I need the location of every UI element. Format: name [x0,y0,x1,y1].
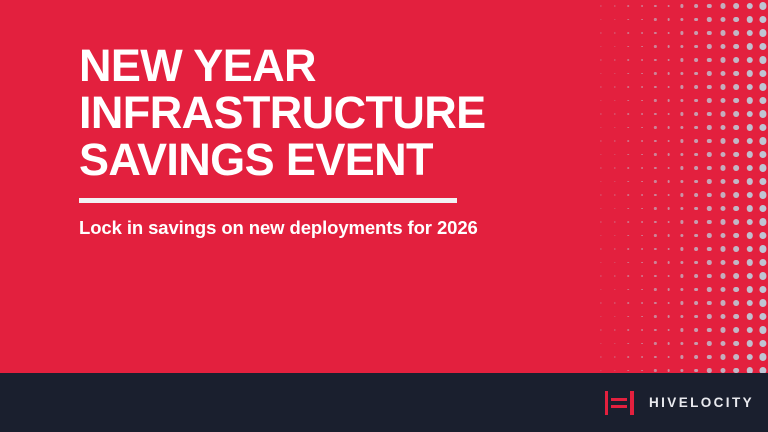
dot [760,178,767,185]
dot [720,98,725,103]
dot [654,5,656,7]
dot [654,207,656,209]
dot [747,3,753,9]
dot [733,314,739,320]
dot [654,248,656,250]
dot [627,208,629,210]
dot-column [608,0,622,373]
dot [641,235,643,237]
dot [601,275,602,276]
dot [627,32,629,34]
brand-wordmark: HIVELOCITY [649,395,754,410]
dot [614,100,615,101]
dot [694,234,698,238]
dot [733,30,739,36]
dot [641,127,643,129]
dot [681,288,684,291]
dot [667,32,670,35]
dot [747,300,753,306]
dot [720,287,725,292]
dot [601,113,602,114]
dot [667,315,670,318]
dot [641,167,643,169]
dot [694,315,698,319]
dot [627,221,629,223]
dot [720,57,725,62]
dot [667,356,670,359]
dot [760,259,767,266]
dot [667,113,670,116]
dot [720,179,725,184]
dot [720,314,725,319]
dot [654,329,656,331]
dot [694,126,698,130]
dot [760,97,767,104]
dot [694,355,698,359]
dot [627,370,629,372]
headline-line-2: INFRASTRUCTURE [79,89,549,136]
dot [733,152,739,158]
dot [654,180,656,182]
dot [601,302,602,303]
dot [667,72,670,75]
dot [641,343,643,345]
dot [654,32,656,34]
dot-column [757,0,768,373]
dot [667,261,670,264]
dot [720,354,725,359]
dot [707,260,711,264]
hero-subhead: Lock in savings on new deployments for 2… [79,203,549,240]
dot [694,153,698,157]
dot [614,221,615,222]
dot [627,59,629,61]
dot [720,152,725,157]
dot [720,44,725,49]
dot [694,220,698,224]
dot [707,85,711,89]
dot [614,329,615,330]
dot [601,167,602,168]
mark-bar-left [605,391,609,415]
dot [654,221,656,223]
dot [694,193,698,197]
dot [641,329,643,331]
dot [627,356,629,358]
dot [654,234,656,236]
dot [601,248,602,249]
dot [681,355,684,358]
dot [681,99,684,102]
dot [720,206,725,211]
dot [760,16,767,23]
dot [707,247,711,251]
dot [627,140,629,142]
dot [641,140,643,142]
dot [760,272,767,279]
dot [681,328,684,331]
dot [667,342,670,345]
dot [601,235,602,236]
dot [627,329,629,331]
dot [601,32,602,33]
dot [694,139,698,143]
dot [614,86,615,87]
dot [747,84,753,90]
dot [601,140,602,141]
dot [641,19,643,21]
dot [627,73,629,75]
dot [614,370,615,371]
dot [641,154,643,156]
dot [654,194,656,196]
dot [760,43,767,50]
dot [641,275,643,277]
dot [707,328,711,332]
dot-column [662,0,676,373]
dot [747,286,753,292]
dot [601,154,602,155]
dot [667,5,670,8]
dot [601,100,602,101]
dot [681,261,684,264]
dot [747,219,753,225]
dot [747,16,753,22]
dot [681,45,684,48]
dot [707,355,711,359]
dot [654,72,656,74]
dot [681,112,684,115]
dot [733,3,739,9]
dot [614,248,615,249]
dot [694,247,698,251]
dot [681,342,684,345]
dot [694,72,698,76]
dot [627,113,629,115]
dot [601,194,602,195]
dot [760,286,767,293]
dot [654,45,656,47]
dot-column [730,0,744,373]
dot-column [635,0,649,373]
dot [733,138,739,144]
dot [601,73,602,74]
dot [614,59,615,60]
dot [694,301,698,305]
dot [707,31,711,35]
dot [760,326,767,333]
dot [747,111,753,117]
dot [627,127,629,129]
dot [641,316,643,318]
dot [641,289,643,291]
dot [694,261,698,265]
dot [733,354,739,360]
mark-bar-bottom [611,405,627,409]
dot [733,287,739,293]
dot [601,343,602,344]
dot [747,124,753,130]
dot [614,127,615,128]
dot [614,181,615,182]
dot-column [676,0,690,373]
dot [747,340,753,346]
dot [641,370,643,372]
dot [694,274,698,278]
dot [760,245,767,252]
dot [667,221,670,224]
dot [601,370,602,371]
dot [760,299,767,306]
dot [667,369,670,372]
dot [654,153,656,155]
dot [694,4,698,8]
dot [733,125,739,131]
dot [760,164,767,171]
dot [681,193,684,196]
dot [694,99,698,103]
dot [747,165,753,171]
dot [641,86,643,88]
dot [720,111,725,116]
dot [694,85,698,89]
dot [667,275,670,278]
dot [694,112,698,116]
dot [641,221,643,223]
dot [694,166,698,170]
dot [681,166,684,169]
dot [627,154,629,156]
brand-logo: HIVELOCITY [605,391,754,415]
dot [733,206,739,212]
dot [654,315,656,317]
dot-column [743,0,757,373]
dot [720,125,725,130]
dot [747,151,753,157]
dot [760,205,767,212]
dot [720,71,725,76]
dot [707,4,711,8]
dot [733,300,739,306]
dot [747,259,753,265]
dot [667,140,670,143]
dot [733,192,739,198]
dot [681,247,684,250]
dot [707,112,711,116]
dot [747,313,753,319]
dot [601,316,602,317]
dot [733,84,739,90]
dot [667,45,670,48]
dot [747,138,753,144]
dot [614,154,615,155]
mark-bar-right [630,391,634,415]
dot [707,193,711,197]
promo-banner: NEW YEAR INFRASTRUCTURE SAVINGS EVENT Lo… [0,0,768,432]
dot [681,180,684,183]
dot [601,181,602,182]
dot [707,44,711,48]
dot [760,83,767,90]
dot [707,166,711,170]
dot [614,46,615,47]
dot [733,341,739,347]
dot [627,302,629,304]
dot [694,207,698,211]
dot [760,2,767,9]
dot [720,327,725,332]
dot [667,329,670,332]
dot [654,140,656,142]
dot [627,100,629,102]
dot [601,356,602,357]
dot [667,86,670,89]
dot [707,287,711,291]
dot [720,192,725,197]
dot [747,30,753,36]
dot [667,18,670,21]
dot [694,328,698,332]
dot [641,5,643,7]
dot [760,110,767,117]
dot [601,59,602,60]
dot [707,206,711,210]
dot [760,151,767,158]
dot [694,31,698,35]
dot [614,208,615,209]
dot [733,179,739,185]
dot [760,340,767,347]
dot [667,248,670,251]
dot [614,194,615,195]
dot [601,5,602,6]
dot-column [649,0,663,373]
headline-line-1: NEW YEAR [79,42,549,89]
dot [627,262,629,264]
halftone-dot-pattern [588,0,768,373]
dot [720,138,725,143]
dot [720,341,725,346]
dot [694,18,698,22]
dot [733,219,739,225]
dot [654,261,656,263]
dot [601,329,602,330]
dot [760,124,767,131]
dot [681,18,684,21]
dot [681,274,684,277]
dot [614,302,615,303]
dot [627,181,629,183]
dot [733,44,739,50]
dot [733,273,739,279]
dot [654,113,656,115]
dot [654,59,656,61]
dot [614,356,615,357]
mark-bar-top [611,398,627,402]
dot [614,113,615,114]
dot [694,180,698,184]
dot-column [622,0,636,373]
dot [707,301,711,305]
dot [760,137,767,144]
dot [707,179,711,183]
dot [681,207,684,210]
dot [760,353,767,360]
dot [627,19,629,21]
dot [681,72,684,75]
dot [641,181,643,183]
dot [694,342,698,346]
dot [641,46,643,48]
dot [707,341,711,345]
dot [614,32,615,33]
dot-column [703,0,717,373]
dot [641,100,643,102]
dot [614,316,615,317]
dot [641,356,643,358]
page-title: NEW YEAR INFRASTRUCTURE SAVINGS EVENT [79,42,549,183]
dot [667,99,670,102]
dot [720,300,725,305]
dot [641,194,643,196]
dot [681,139,684,142]
dot [641,59,643,61]
dot [654,288,656,290]
dot [707,58,711,62]
dot [733,246,739,252]
dot-column [716,0,730,373]
dot [667,180,670,183]
dot [627,235,629,237]
dot [654,167,656,169]
dot [641,248,643,250]
dot [627,5,629,7]
dot [654,356,656,358]
dot [720,17,725,22]
dot [614,289,615,290]
dot [733,57,739,63]
dot [654,275,656,277]
dot [707,139,711,143]
dot [760,313,767,320]
dot [614,262,615,263]
dot [641,302,643,304]
dot [681,220,684,223]
dot [601,221,602,222]
dot [733,71,739,77]
dot [747,70,753,76]
dot [627,248,629,250]
dot [747,178,753,184]
dot [667,167,670,170]
dot [681,4,684,7]
dot [681,301,684,304]
dot [707,98,711,102]
dot [694,288,698,292]
dot [601,86,602,87]
dot [614,275,615,276]
dot [720,233,725,238]
dot [760,191,767,198]
dot [681,369,684,372]
dot [614,5,615,6]
dot [733,98,739,104]
dot [720,260,725,265]
dot [654,369,656,371]
dot [681,58,684,61]
dot-column [689,0,703,373]
dot [747,327,753,333]
